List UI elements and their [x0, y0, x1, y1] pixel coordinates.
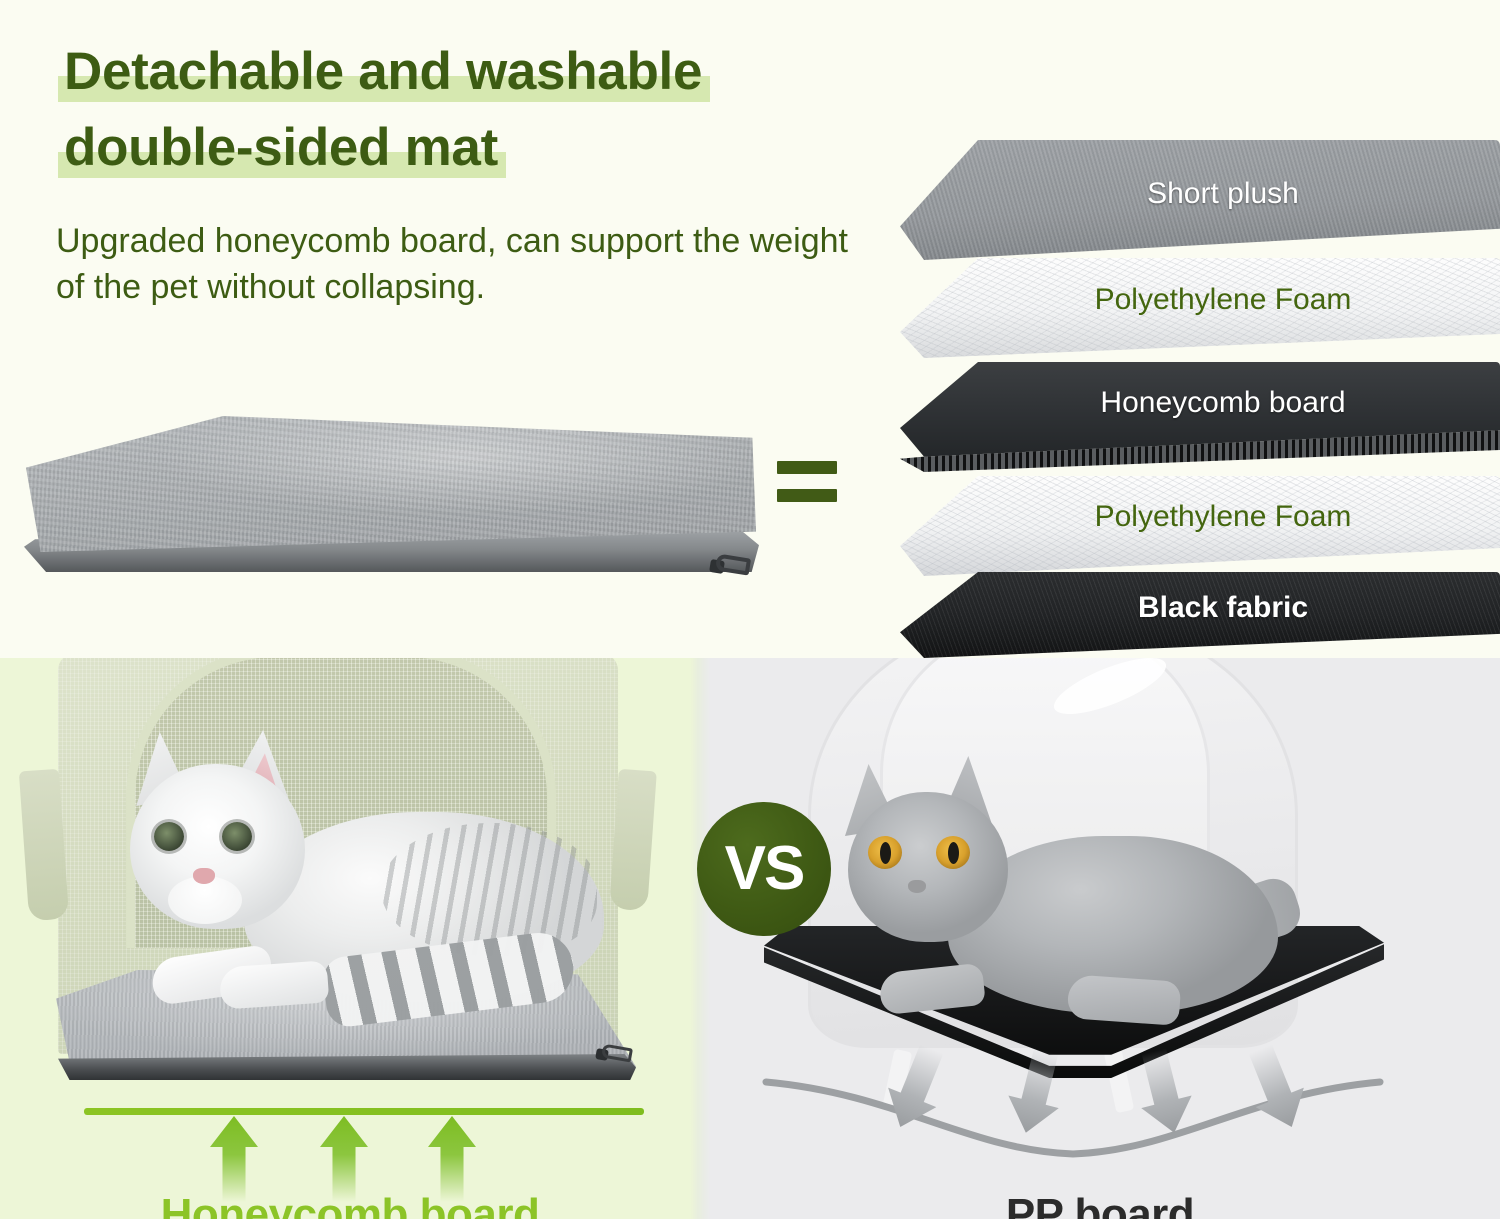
- headline-line-1: Detachable and washable: [64, 38, 702, 106]
- layer-short-plush: Short plush: [900, 140, 1500, 260]
- cat-paw-left: [878, 963, 986, 1016]
- honeycomb-mat-zipper-icon: [596, 1044, 642, 1070]
- top-section: Detachable and washable double-sided mat…: [0, 0, 1500, 658]
- vs-label: VS: [725, 838, 804, 900]
- layer-polyethylene-foam-top: Polyethylene Foam: [900, 258, 1500, 358]
- equals-bar-bottom: [777, 489, 837, 502]
- headline-text-1: Detachable and washable: [64, 42, 702, 101]
- cat-eye-left: [154, 822, 184, 851]
- cat-head: [848, 792, 1008, 942]
- headline-text-2: double-sided mat: [64, 118, 498, 177]
- silver-tabby-cat: [92, 718, 622, 1038]
- layer-label-black-fabric: Black fabric: [900, 591, 1500, 639]
- layer-label-short-plush: Short plush: [900, 177, 1500, 223]
- layer-honeycomb-board: Honeycomb board: [900, 362, 1500, 472]
- cat-nose: [908, 880, 926, 893]
- vs-badge: VS: [697, 802, 831, 936]
- plush-mat-product: [10, 412, 770, 612]
- cat-pupil-left: [880, 842, 891, 864]
- headline-block: Detachable and washable double-sided mat: [64, 38, 864, 190]
- subcopy-paragraph: Upgraded honeycomb board, can support th…: [56, 218, 866, 310]
- equals-icon: [777, 457, 837, 509]
- cat-paw-right: [1067, 974, 1182, 1026]
- layer-polyethylene-foam-bottom: Polyethylene Foam: [900, 476, 1500, 576]
- zipper-icon: [710, 554, 762, 584]
- cat-nose: [193, 868, 215, 884]
- cat-paw-right: [219, 960, 330, 1009]
- comparison-panel-honeycomb: Honeycomb board: [0, 658, 700, 1219]
- mat-top-surface: [26, 416, 756, 552]
- support-line-flat: [84, 1108, 644, 1115]
- equals-bar-top: [777, 461, 837, 474]
- panel-divider: [690, 658, 710, 1219]
- gray-cat: [830, 740, 1290, 1030]
- layer-label-foam-bottom: Polyethylene Foam: [900, 500, 1500, 552]
- headline-line-2: double-sided mat: [64, 114, 498, 182]
- cat-pupil-right: [948, 842, 959, 864]
- layer-label-foam-top: Polyethylene Foam: [900, 283, 1500, 333]
- cat-eye-right: [222, 822, 252, 851]
- layer-black-fabric: Black fabric: [900, 572, 1500, 658]
- layer-stack-diagram: Short plush Polyethylene Foam Honeycomb …: [900, 140, 1500, 610]
- layer-label-honeycomb: Honeycomb board: [900, 386, 1500, 448]
- comparison-panel-ppboard: PP board: [700, 658, 1500, 1219]
- caption-pp-board: PP board: [700, 1190, 1500, 1219]
- caption-honeycomb-board: Honeycomb board: [0, 1190, 700, 1219]
